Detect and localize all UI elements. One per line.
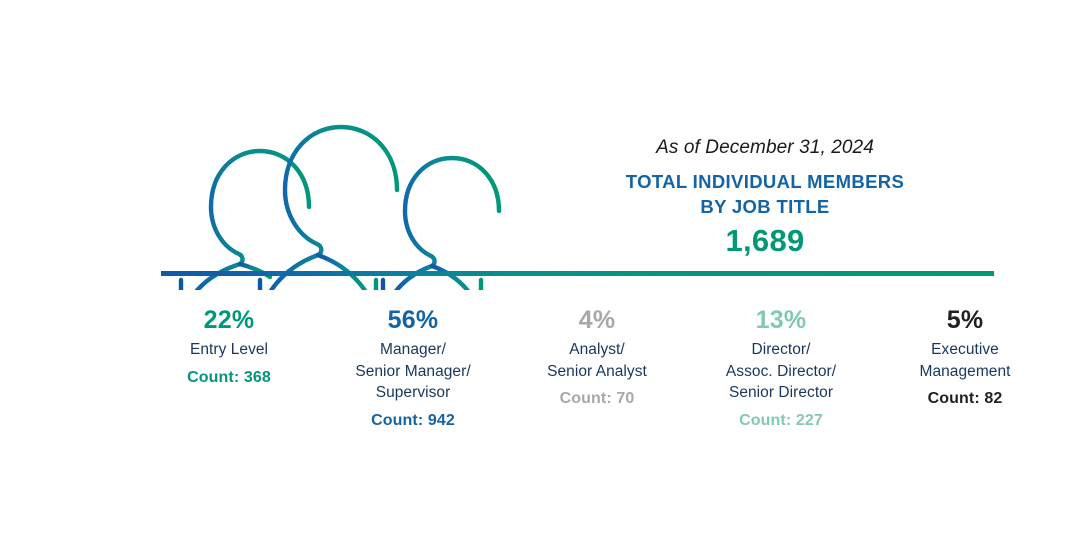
stat-percent: 56% bbox=[318, 305, 508, 335]
stat-column-analyst: 4% Analyst/ Senior Analyst Count: 70 bbox=[502, 305, 692, 409]
stat-percent: 13% bbox=[686, 305, 876, 335]
page-title: TOTAL INDIVIDUAL MEMBERS BY JOB TITLE bbox=[600, 169, 930, 219]
stat-column-manager: 56% Manager/ Senior Manager/ Supervisor … bbox=[318, 305, 508, 431]
header-block: As of December 31, 2024 TOTAL INDIVIDUAL… bbox=[600, 136, 930, 259]
stat-column-entry-level: 22% Entry Level Count: 368 bbox=[134, 305, 324, 388]
stat-column-executive: 5% Executive Management Count: 82 bbox=[870, 305, 1060, 409]
as-of-date: As of December 31, 2024 bbox=[600, 136, 930, 160]
stat-label-line: Entry Level bbox=[134, 339, 324, 361]
stat-label-line: Assoc. Director/ bbox=[686, 361, 876, 383]
stat-percent: 22% bbox=[134, 305, 324, 335]
stat-count: Count: 70 bbox=[502, 388, 692, 409]
stat-count: Count: 227 bbox=[686, 410, 876, 431]
stat-label: Entry Level bbox=[134, 339, 324, 361]
stat-label: Analyst/ Senior Analyst bbox=[502, 339, 692, 382]
stat-count: Count: 942 bbox=[318, 410, 508, 431]
stat-label-line: Analyst/ bbox=[502, 339, 692, 361]
stat-count: Count: 368 bbox=[134, 367, 324, 388]
page-title-line-1: TOTAL INDIVIDUAL MEMBERS bbox=[626, 171, 904, 192]
stat-label-line: Management bbox=[870, 361, 1060, 383]
stat-label-line: Executive bbox=[870, 339, 1060, 361]
stat-column-director: 13% Director/ Assoc. Director/ Senior Di… bbox=[686, 305, 876, 431]
stat-label-line: Senior Director bbox=[686, 382, 876, 404]
page-title-line-2: BY JOB TITLE bbox=[600, 194, 930, 219]
person-middle-icon bbox=[260, 127, 397, 290]
stat-label-line: Manager/ bbox=[318, 339, 508, 361]
person-right-body bbox=[432, 266, 481, 290]
stat-label-line: Senior Manager/ bbox=[318, 361, 508, 383]
stats-row: 22% Entry Level Count: 368 56% Manager/ … bbox=[120, 305, 1065, 465]
gradient-baseline-rule bbox=[161, 271, 994, 276]
stat-percent: 4% bbox=[502, 305, 692, 335]
stat-percent: 5% bbox=[870, 305, 1060, 335]
stat-label-line: Director/ bbox=[686, 339, 876, 361]
stat-count: Count: 82 bbox=[870, 388, 1060, 409]
stat-label: Manager/ Senior Manager/ Supervisor bbox=[318, 339, 508, 404]
stat-label: Director/ Assoc. Director/ Senior Direct… bbox=[686, 339, 876, 404]
total-members-value: 1,689 bbox=[600, 223, 930, 259]
people-figures-group bbox=[181, 127, 499, 290]
stat-label: Executive Management bbox=[870, 339, 1060, 382]
stat-label-line: Senior Analyst bbox=[502, 361, 692, 383]
infographic-canvas: As of December 31, 2024 TOTAL INDIVIDUAL… bbox=[0, 0, 1080, 540]
stat-label-line: Supervisor bbox=[318, 382, 508, 404]
